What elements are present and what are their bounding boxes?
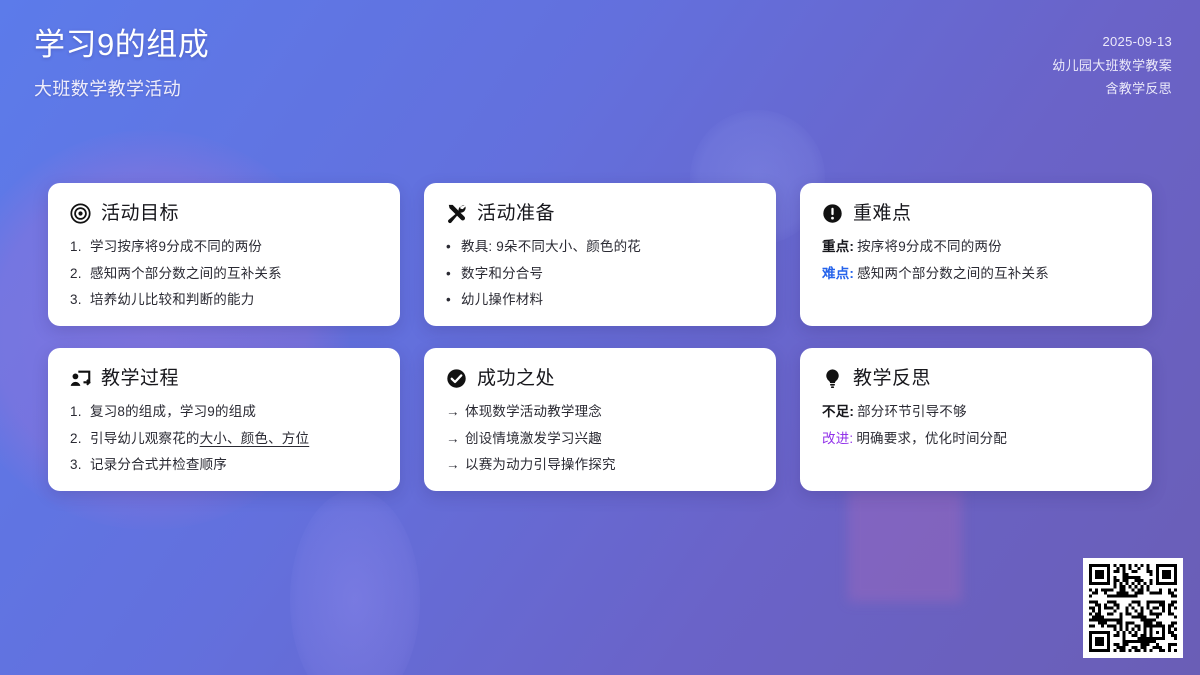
title-block: 学习9的组成 大班数学教学活动 <box>34 26 209 101</box>
item-text: 学习按序将9分成不同的两份 <box>90 239 262 254</box>
list-marker: → <box>446 430 460 448</box>
list-marker: • <box>446 238 456 256</box>
list-item: 难点:感知两个部分数之间的互补关系 <box>822 265 1132 283</box>
card-successes: 成功之处→体现数学活动教学理念→创设情境激发学习兴趣→以赛为动力引导操作探究 <box>424 348 776 491</box>
card-grid: 活动目标1.学习按序将9分成不同的两份2.感知两个部分数之间的互补关系3.培养幼… <box>48 183 1152 491</box>
list-item: 3.记录分合式并检查顺序 <box>70 456 380 474</box>
card-preparation: 活动准备•教具: 9朵不同大小、颜色的花•数字和分合号•幼儿操作材料 <box>424 183 776 326</box>
list-item: →体现数学活动教学理念 <box>446 403 756 421</box>
card-process: 教学过程1.复习8的组成，学习9的组成2.引导幼儿观察花的大小、颜色、方位3.记… <box>48 348 400 491</box>
card-header: 教学反思 <box>822 368 1132 389</box>
item-text-underlined: 大小、颜色、方位 <box>200 431 310 446</box>
list-marker: → <box>446 456 460 474</box>
card-title: 活动准备 <box>477 204 555 223</box>
decorative-rectangle-pink <box>848 489 962 602</box>
item-text: 引导幼儿观察花的 <box>90 431 200 446</box>
card-title: 重难点 <box>853 204 912 223</box>
card-title: 活动目标 <box>101 204 179 223</box>
item-text: 培养幼儿比较和判断的能力 <box>90 292 254 307</box>
tools-icon <box>446 203 467 224</box>
slide-root: 学习9的组成 大班数学教学活动 2025-09-13 幼儿园大班数学教案 含教学… <box>0 0 1200 675</box>
card-title: 成功之处 <box>477 369 555 388</box>
card-body: 1.学习按序将9分成不同的两份2.感知两个部分数之间的互补关系3.培养幼儿比较和… <box>70 238 380 309</box>
list-item: 重点:按序将9分成不同的两份 <box>822 238 1132 256</box>
list-item: •数字和分合号 <box>446 265 756 283</box>
item-label: 不足: <box>822 404 854 419</box>
card-header: 活动准备 <box>446 203 756 224</box>
list-item: 改进:明确要求，优化时间分配 <box>822 430 1132 448</box>
list-item: •幼儿操作材料 <box>446 291 756 309</box>
item-text: 明确要求，优化时间分配 <box>856 431 1007 446</box>
item-text: 幼儿操作材料 <box>461 292 543 307</box>
item-text: 复习8的组成，学习9的组成 <box>90 404 256 419</box>
card-objectives: 活动目标1.学习按序将9分成不同的两份2.感知两个部分数之间的互补关系3.培养幼… <box>48 183 400 326</box>
list-item: →以赛为动力引导操作探究 <box>446 456 756 474</box>
lightbulb-icon <box>822 368 843 389</box>
list-marker: 2. <box>70 430 85 448</box>
list-item: 1.学习按序将9分成不同的两份 <box>70 238 380 256</box>
item-text: 数字和分合号 <box>461 266 543 281</box>
item-text: 教具: 9朵不同大小、颜色的花 <box>461 239 641 254</box>
item-label: 改进: <box>822 431 853 446</box>
qr-code[interactable] <box>1083 558 1183 658</box>
card-body: •教具: 9朵不同大小、颜色的花•数字和分合号•幼儿操作材料 <box>446 238 756 309</box>
item-text: 创设情境激发学习兴趣 <box>465 431 602 446</box>
list-marker: 1. <box>70 403 85 421</box>
card-body: 不足:部分环节引导不够改进:明确要求，优化时间分配 <box>822 403 1132 447</box>
list-item: 2.引导幼儿观察花的大小、颜色、方位 <box>70 430 380 448</box>
item-text: 以赛为动力引导操作探究 <box>465 457 616 472</box>
item-label: 重点: <box>822 239 854 254</box>
item-text: 感知两个部分数之间的互补关系 <box>857 266 1049 281</box>
list-marker: • <box>446 291 456 309</box>
list-item: 不足:部分环节引导不够 <box>822 403 1132 421</box>
list-marker: 3. <box>70 291 85 309</box>
meta-date: 2025-09-13 <box>1103 32 1173 52</box>
list-marker: 1. <box>70 238 85 256</box>
list-item: 1.复习8的组成，学习9的组成 <box>70 403 380 421</box>
card-header: 重难点 <box>822 203 1132 224</box>
item-text: 部分环节引导不够 <box>857 404 967 419</box>
list-marker: 2. <box>70 265 85 283</box>
presentation-icon <box>70 368 91 389</box>
item-text: 体现数学活动教学理念 <box>465 404 602 419</box>
card-key-difficulty: 重难点重点:按序将9分成不同的两份难点:感知两个部分数之间的互补关系 <box>800 183 1152 326</box>
card-body: →体现数学活动教学理念→创设情境激发学习兴趣→以赛为动力引导操作探究 <box>446 403 756 474</box>
list-item: •教具: 9朵不同大小、颜色的花 <box>446 238 756 256</box>
check-circle-icon <box>446 368 467 389</box>
list-item: 3.培养幼儿比较和判断的能力 <box>70 291 380 309</box>
card-title: 教学反思 <box>853 369 931 388</box>
card-header: 活动目标 <box>70 203 380 224</box>
list-marker: → <box>446 403 460 421</box>
item-text: 记录分合式并检查顺序 <box>90 457 227 472</box>
item-text: 按序将9分成不同的两份 <box>857 239 1002 254</box>
header-meta: 2025-09-13 幼儿园大班数学教案 含教学反思 <box>1052 26 1172 99</box>
meta-source: 幼儿园大班数学教案 <box>1052 56 1172 76</box>
qr-code-image <box>1089 564 1177 652</box>
list-marker: • <box>446 265 456 283</box>
exclamation-circle-icon <box>822 203 843 224</box>
meta-note: 含教学反思 <box>1105 79 1172 99</box>
card-title: 教学过程 <box>101 369 179 388</box>
item-text: 感知两个部分数之间的互补关系 <box>90 266 282 281</box>
item-label: 难点: <box>822 266 854 281</box>
decorative-ellipse-lower <box>290 490 420 675</box>
page-subtitle: 大班数学教学活动 <box>34 75 209 101</box>
list-item: →创设情境激发学习兴趣 <box>446 430 756 448</box>
card-body: 1.复习8的组成，学习9的组成2.引导幼儿观察花的大小、颜色、方位3.记录分合式… <box>70 403 380 474</box>
target-icon <box>70 203 91 224</box>
slide-header: 学习9的组成 大班数学教学活动 2025-09-13 幼儿园大班数学教案 含教学… <box>0 0 1200 101</box>
card-header: 成功之处 <box>446 368 756 389</box>
card-header: 教学过程 <box>70 368 380 389</box>
list-item: 2.感知两个部分数之间的互补关系 <box>70 265 380 283</box>
card-body: 重点:按序将9分成不同的两份难点:感知两个部分数之间的互补关系 <box>822 238 1132 282</box>
card-reflection: 教学反思不足:部分环节引导不够改进:明确要求，优化时间分配 <box>800 348 1152 491</box>
page-title: 学习9的组成 <box>34 26 209 65</box>
list-marker: 3. <box>70 456 85 474</box>
